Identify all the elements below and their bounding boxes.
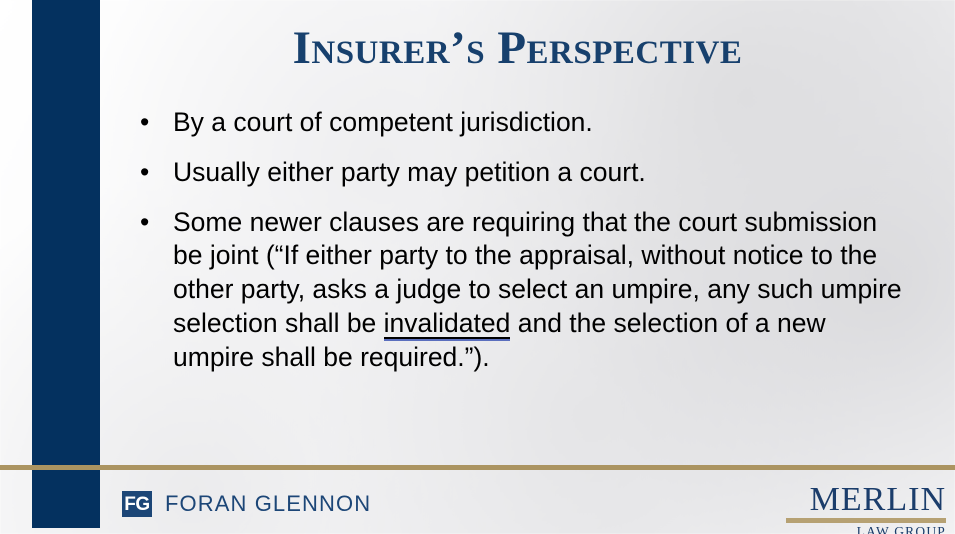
foran-glennon-name: FORAN GLENNON: [165, 491, 371, 517]
list-item: • Some newer clauses are requiring that …: [140, 206, 910, 375]
foran-glennon-monogram-icon: FG: [122, 491, 152, 517]
bullet-point-icon: •: [140, 206, 173, 240]
bullet-point-icon: •: [140, 106, 173, 140]
bullet-point-icon: •: [140, 156, 173, 190]
presentation-slide: Insurer’s Perspective • By a court of co…: [0, 0, 955, 534]
merlin-gold-bar: [786, 518, 946, 523]
bullet-list: • By a court of competent jurisdiction. …: [140, 106, 910, 375]
merlin-subtitle: LAW GROUP: [786, 525, 946, 534]
emphasized-term: invalidated: [384, 308, 511, 341]
bullet-text: Usually either party may petition a cour…: [173, 156, 910, 190]
foran-glennon-logo: FG FORAN GLENNON: [122, 491, 371, 517]
merlin-wordmark: MERLIN: [786, 483, 946, 517]
footer-divider-rule: [0, 465, 955, 470]
bullet-text: Some newer clauses are requiring that th…: [173, 206, 910, 375]
list-item: • Usually either party may petition a co…: [140, 156, 910, 190]
merlin-law-group-logo: MERLIN LAW GROUP: [786, 483, 946, 534]
bullet-text: By a court of competent jurisdiction.: [173, 106, 910, 140]
left-accent-band: [32, 0, 100, 528]
slide-title: Insurer’s Perspective: [100, 24, 935, 73]
list-item: • By a court of competent jurisdiction.: [140, 106, 910, 140]
